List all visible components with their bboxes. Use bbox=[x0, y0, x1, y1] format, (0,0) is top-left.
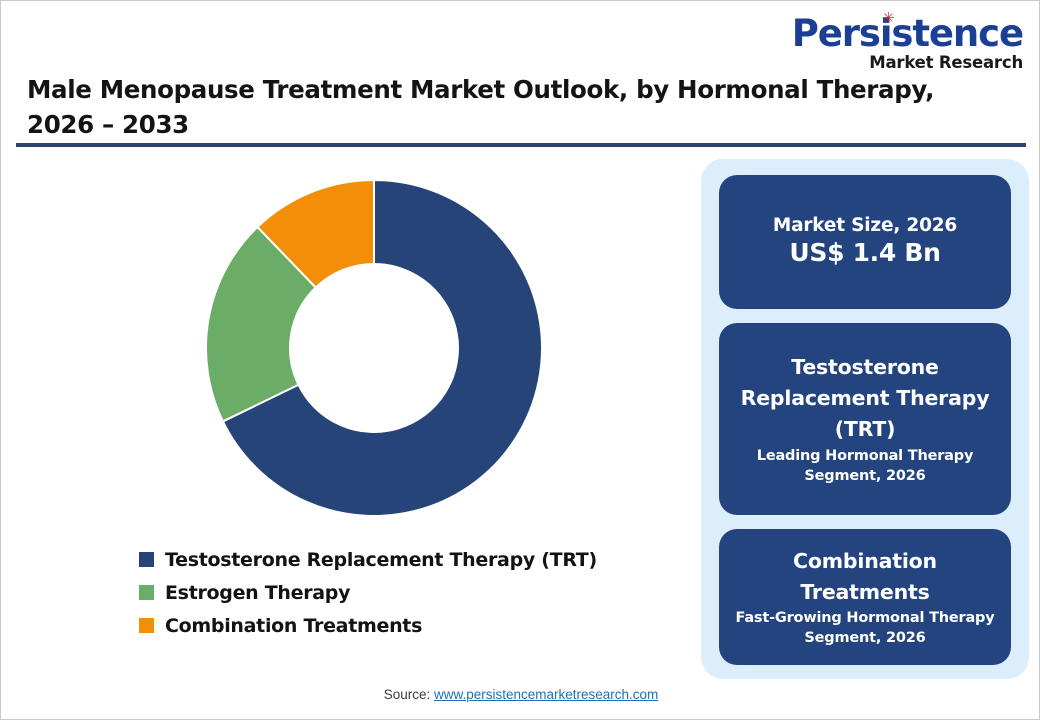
legend-swatch-estrogen bbox=[139, 585, 154, 600]
highlight-panel: Market Size, 2026 US$ 1.4 Bn Testosteron… bbox=[701, 159, 1029, 679]
highlight-card-leading-segment: Testosterone Replacement Therapy (TRT) L… bbox=[719, 323, 1011, 515]
page-title: Male Menopause Treatment Market Outlook,… bbox=[27, 73, 957, 143]
chart-legend: Testosterone Replacement Therapy (TRT) E… bbox=[139, 543, 659, 642]
donut-chart bbox=[203, 177, 545, 519]
legend-label-trt: Testosterone Replacement Therapy (TRT) bbox=[165, 549, 597, 571]
brand-star-icon: ✳ bbox=[882, 13, 893, 24]
legend-item-estrogen: Estrogen Therapy bbox=[139, 576, 659, 609]
legend-item-trt: Testosterone Replacement Therapy (TRT) bbox=[139, 543, 659, 576]
legend-label-combination: Combination Treatments bbox=[165, 615, 422, 637]
brand-logo: Persistence ✳ Market Research bbox=[787, 15, 1023, 71]
highlight-card-market-size: Market Size, 2026 US$ 1.4 Bn bbox=[719, 175, 1011, 309]
brand-name: Persistence bbox=[792, 15, 1023, 53]
card-title-leading-segment: Testosterone Replacement Therapy (TRT) bbox=[735, 352, 995, 444]
source-prefix: Source: bbox=[384, 687, 434, 702]
source-link[interactable]: www.persistencemarketresearch.com bbox=[434, 687, 658, 702]
card-title-market-size: Market Size, 2026 bbox=[773, 214, 957, 237]
infographic-page: Persistence ✳ Market Research Male Menop… bbox=[0, 0, 1040, 720]
title-divider bbox=[16, 143, 1026, 147]
source-footer: Source: www.persistencemarketresearch.co… bbox=[1, 687, 1040, 702]
card-subtitle-fastest-segment: Fast-Growing Hormonal Therapy Segment, 2… bbox=[735, 608, 995, 648]
card-subtitle-leading-segment: Leading Hormonal Therapy Segment, 2026 bbox=[735, 446, 995, 486]
donut-slices bbox=[206, 180, 542, 516]
brand-tagline: Market Research bbox=[787, 55, 1023, 72]
legend-swatch-combination bbox=[139, 618, 154, 633]
legend-swatch-trt bbox=[139, 552, 154, 567]
card-title-fastest-segment: Combination Treatments bbox=[735, 546, 995, 608]
card-value-market-size: US$ 1.4 Bn bbox=[789, 237, 940, 270]
donut-chart-svg bbox=[203, 177, 545, 519]
chart-area: Testosterone Replacement Therapy (TRT) E… bbox=[17, 151, 677, 671]
legend-label-estrogen: Estrogen Therapy bbox=[165, 582, 350, 604]
legend-item-combination: Combination Treatments bbox=[139, 609, 659, 642]
highlight-card-fastest-segment: Combination Treatments Fast-Growing Horm… bbox=[719, 529, 1011, 665]
